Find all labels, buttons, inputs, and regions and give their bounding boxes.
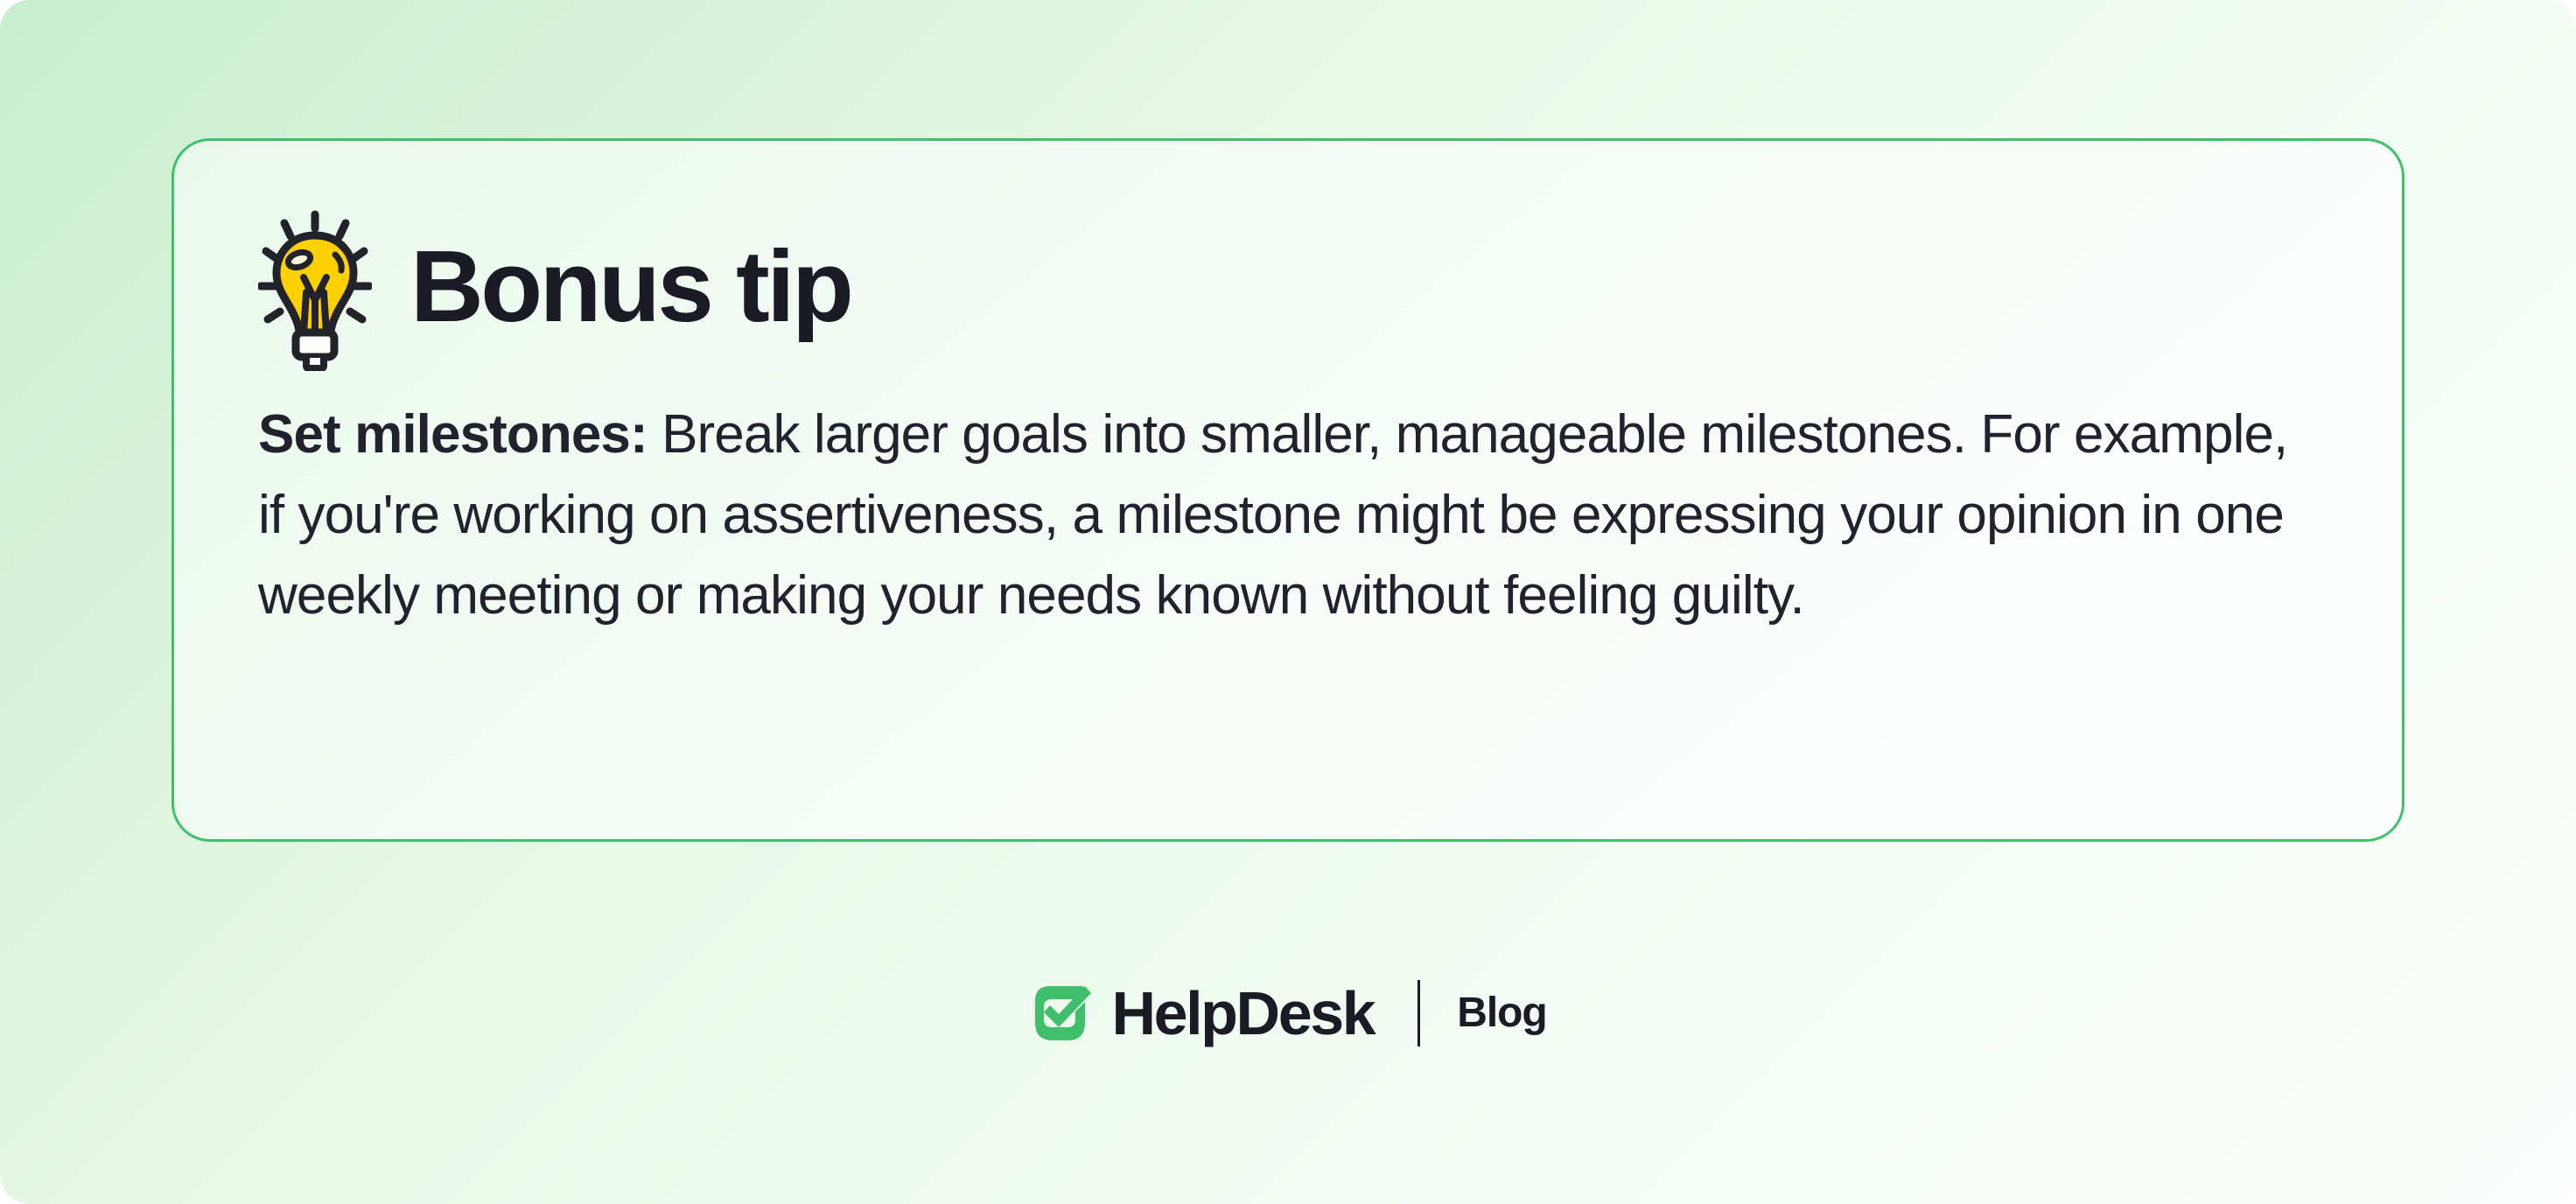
tip-body-text: Set milestones: Break larger goals into …: [258, 395, 2318, 636]
blog-link[interactable]: Blog: [1457, 992, 1546, 1034]
tip-body-lead: Set milestones:: [258, 404, 647, 465]
promo-canvas: Bonus tip Set milestones: Break larger g…: [0, 0, 2576, 1204]
brand-name: HelpDesk: [1111, 983, 1374, 1044]
helpdesk-brand[interactable]: HelpDesk: [1029, 980, 1374, 1046]
card-header: Bonus tip: [258, 202, 850, 377]
footer-divider: [1417, 980, 1420, 1046]
footer-branding: HelpDesk Blog: [0, 961, 2576, 1066]
lightbulb-icon: [258, 209, 372, 371]
bonus-tip-card: Bonus tip Set milestones: Break larger g…: [171, 138, 2404, 842]
helpdesk-checkbox-logo: [1029, 980, 1095, 1046]
page-title: Bonus tip: [410, 235, 850, 337]
